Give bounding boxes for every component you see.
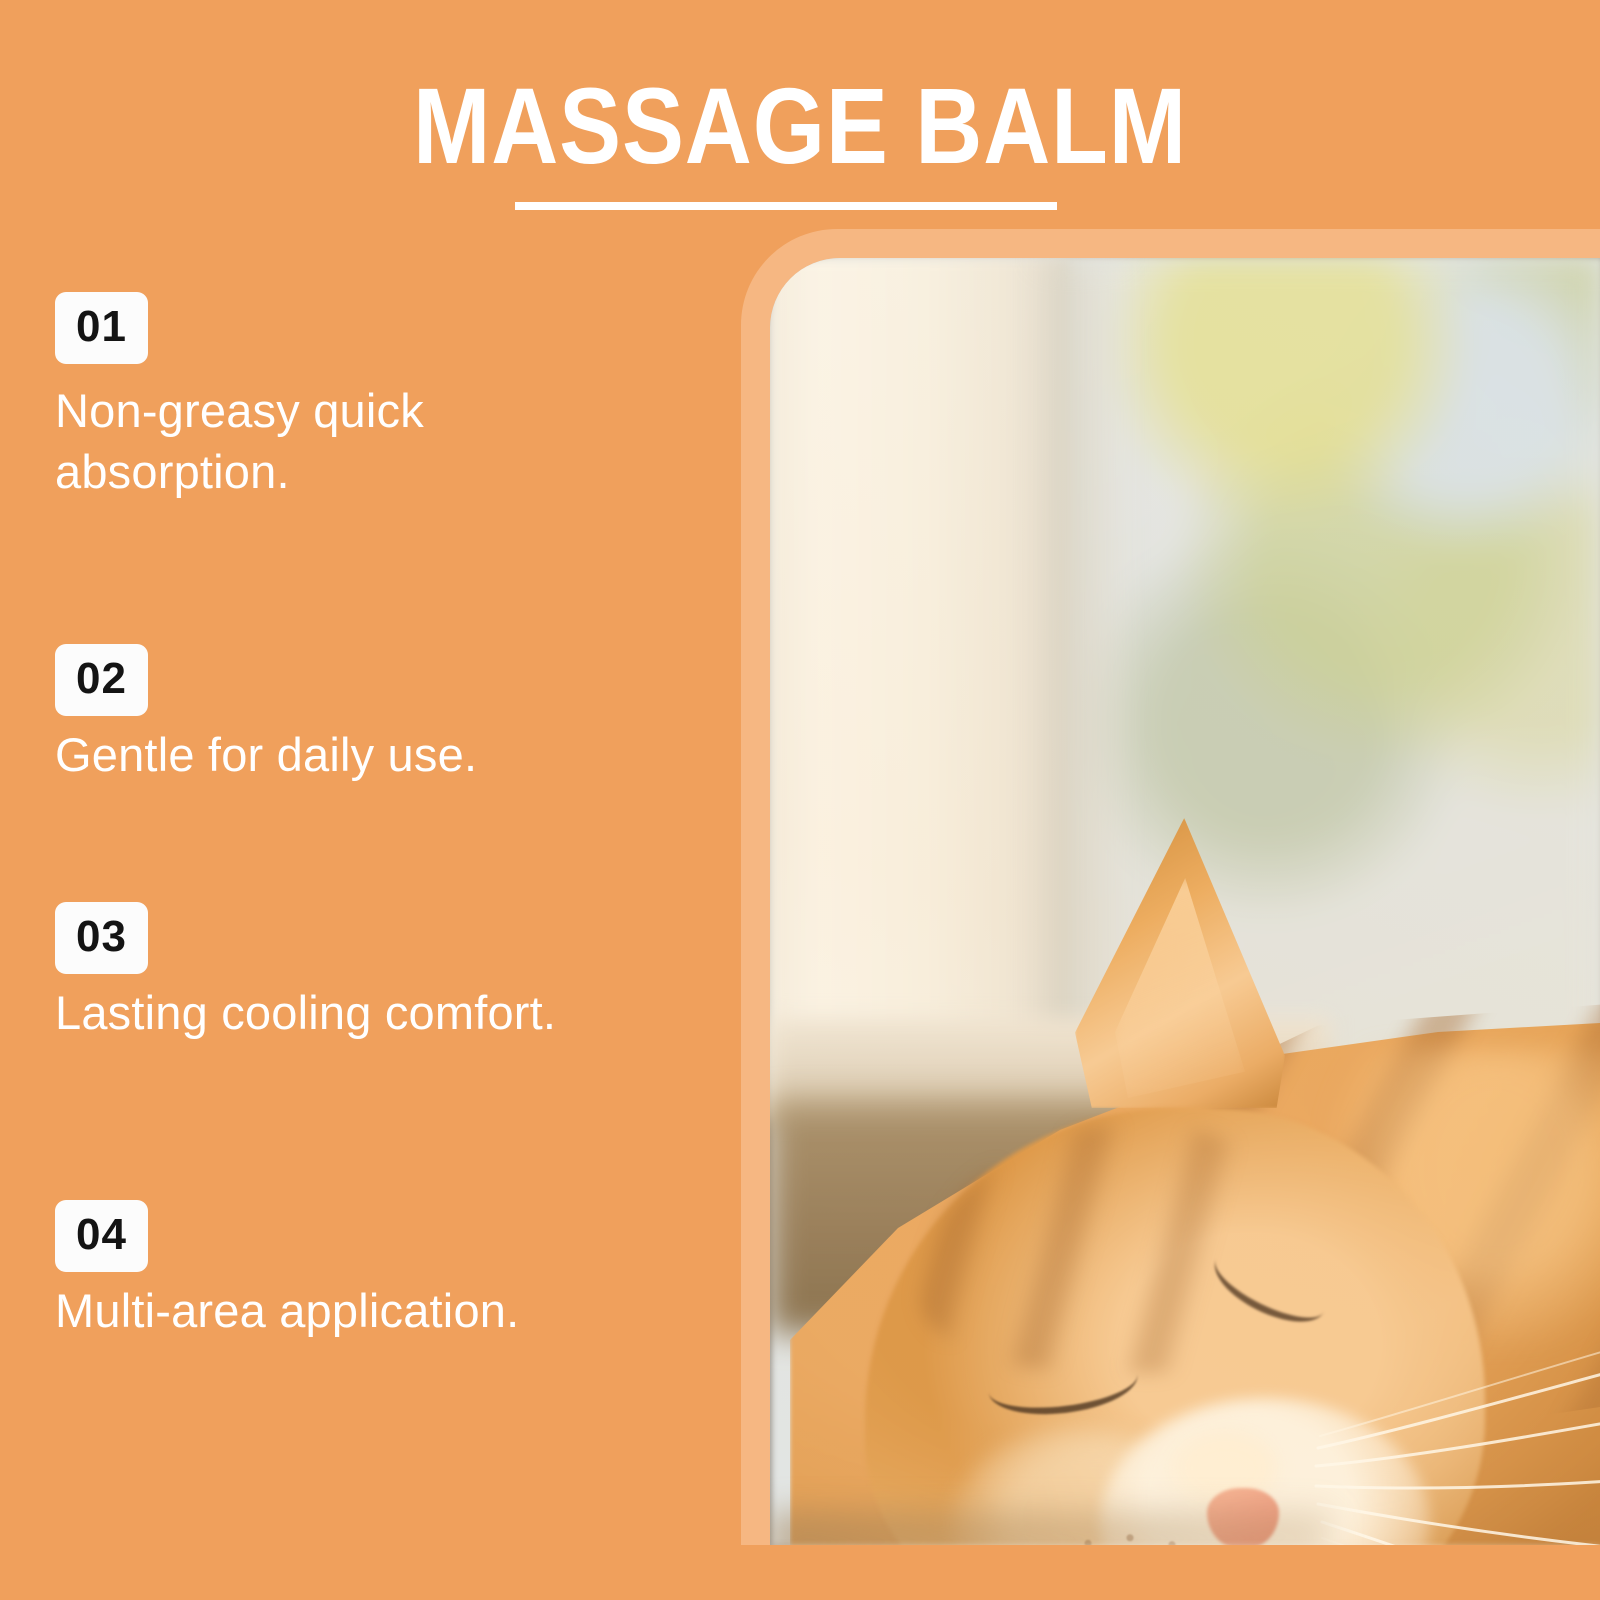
cat-whisker-pad-dots [1070,1528,1220,1545]
cat-closed-eye-left [985,1345,1141,1422]
cat-photo [770,258,1600,1545]
cat-whiskers [1310,1298,1600,1545]
window-mullion [770,258,1070,1118]
cat-closed-eye-right [1204,1234,1336,1336]
feature-item-01: 01 Non-greasy quick absorption. [55,292,715,502]
feature-item-03: 03 Lasting cooling comfort. [55,902,715,1043]
cat-back-highlight [1330,1048,1600,1348]
feature-text: Lasting cooling comfort. [55,982,695,1043]
cat-body [790,1018,1600,1545]
feature-text: Multi-area application. [55,1280,695,1341]
feature-item-04: 04 Multi-area application. [55,1200,715,1341]
feature-text: Gentle for daily use. [55,724,695,785]
title-underline-rule [515,202,1057,210]
cat-nose-bridge [1160,1423,1280,1513]
cat-tabby-stripes [1070,998,1600,1458]
cat-nose [1207,1488,1279,1545]
feature-text: Non-greasy quick absorption. [55,380,535,502]
feature-number-badge: 02 [55,644,148,716]
feature-item-02: 02 Gentle for daily use. [55,644,715,785]
window-mullion-edge [1048,258,1120,1118]
window-sill-shadow [770,1103,1200,1333]
cat-ear-inner [1115,878,1245,1098]
warm-light-overlay [770,258,1600,1545]
cat-forehead-stripes [920,1123,1350,1373]
window-sky-bokeh [770,258,1600,1088]
feature-number-badge: 03 [55,902,148,974]
cat-muzzle [1100,1398,1430,1545]
feature-number-badge: 01 [55,292,148,364]
surface-shadow [770,1513,1330,1545]
header: MASSAGE BALM [0,0,1600,240]
feature-number-badge: 04 [55,1200,148,1272]
cat-cheek [950,1428,1210,1545]
cat-head [865,1108,1485,1545]
promo-card: MASSAGE BALM 01 Non-greasy quick absorpt… [0,0,1600,1600]
cat-ear [1075,818,1285,1108]
page-title: MASSAGE BALM [112,72,1488,180]
window-sill [770,1018,1330,1128]
